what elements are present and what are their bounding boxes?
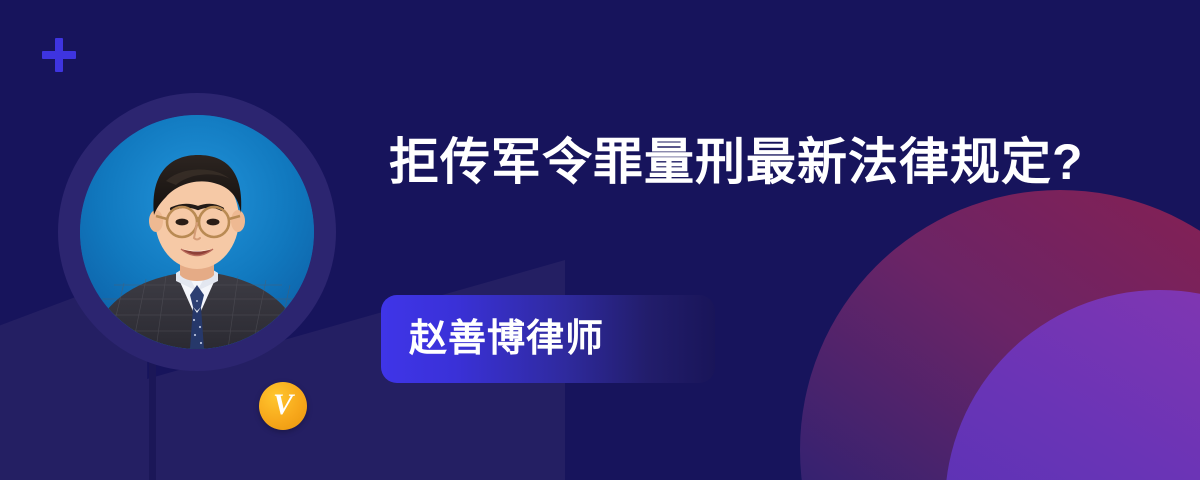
verified-badge-label: V xyxy=(273,390,293,420)
lawyer-question-banner: V 拒传军令罪量刑最新法律规定? 赵善博律师 xyxy=(0,0,1200,480)
lawyer-name-label: 赵善博律师 xyxy=(409,320,604,358)
headline-block: 拒传军令罪量刑最新法律规定? xyxy=(389,124,1089,200)
plus-icon xyxy=(42,38,76,72)
verified-badge: V xyxy=(259,382,307,430)
decorative-circle-magenta xyxy=(800,190,1200,480)
page-title: 拒传军令罪量刑最新法律规定? xyxy=(389,124,1089,200)
avatar[interactable]: V xyxy=(58,93,336,371)
decorative-circle-violet xyxy=(945,290,1200,480)
lawyer-name-badge[interactable]: 赵善博律师 xyxy=(381,295,715,383)
avatar-photo xyxy=(80,115,314,349)
